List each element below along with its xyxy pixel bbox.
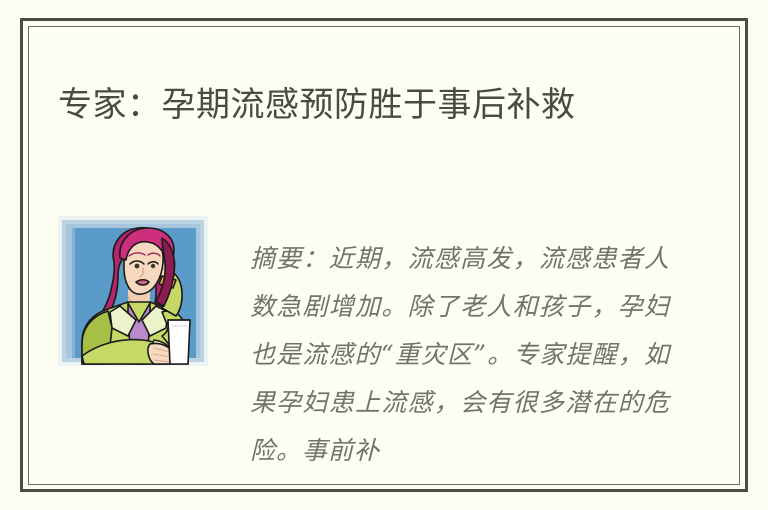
article-content: 专家：孕期流感预防胜于事后补救 xyxy=(28,26,740,485)
article-illustration xyxy=(58,216,208,366)
article-body: 摘要：近期，流感高发，流感患者人数急剧增加。除了老人和孩子，孕妇也是流感的“重灾… xyxy=(58,216,718,466)
article-page: 专家：孕期流感预防胜于事后补救 xyxy=(0,0,768,510)
page-title: 专家：孕期流感预防胜于事后补救 xyxy=(58,79,668,132)
woman-with-cup-clipart xyxy=(58,216,208,366)
article-abstract: 摘要：近期，流感高发，流感患者人数急剧增加。除了老人和孩子，孕妇也是流感的“重灾… xyxy=(250,235,670,466)
